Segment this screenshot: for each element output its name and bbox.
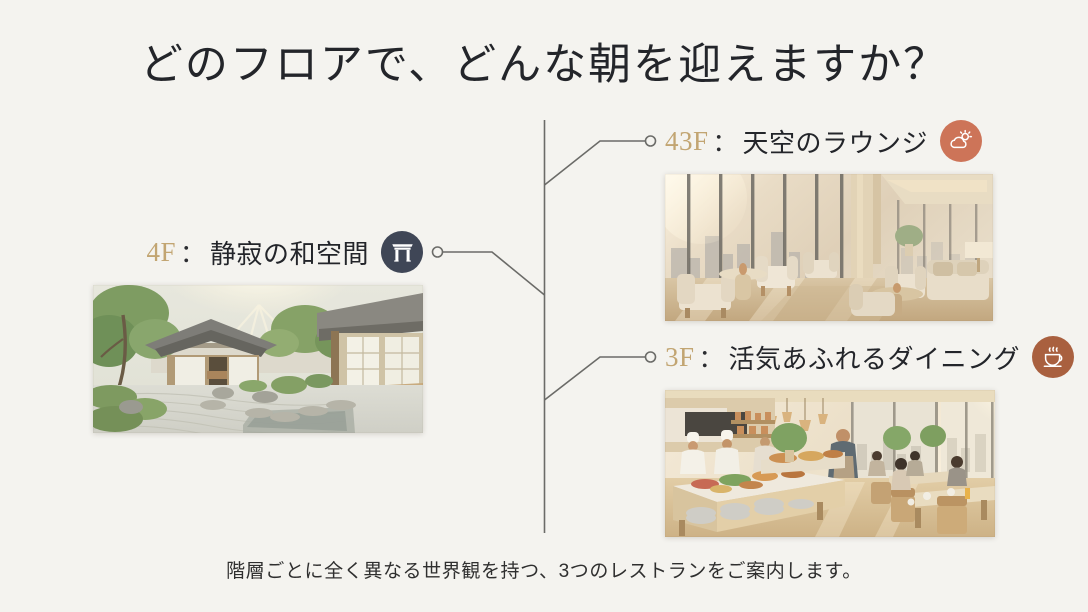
connector-branch-43f (545, 141, 646, 185)
floor-name-3f: 活気あふれるダイニング (729, 339, 1021, 376)
sun-cloud-icon (940, 120, 982, 162)
connector-branch-3f (545, 357, 646, 400)
floor-label-43f[interactable]: 43F ： 天空のラウンジ (665, 120, 993, 162)
japanese-garden-photo[interactable] (93, 285, 423, 433)
floor-name-43f: 天空のラウンジ (743, 123, 929, 160)
page-title: どのフロアで、どんな朝を迎えますか？ (0, 30, 1088, 92)
floor-number-43f: 43F (665, 126, 709, 157)
torii-icon (381, 231, 423, 273)
floor-name-4f: 静寂の和空間 (210, 234, 369, 271)
floor-separator-4f: ： (176, 234, 210, 270)
floor-label-3f[interactable]: 3F ： 活気あふれるダイニング (665, 336, 1074, 378)
coffee-cup-icon (1032, 336, 1074, 378)
connector-node-43f (646, 136, 656, 146)
floor-block-3f: 3F ： 活気あふれるダイニング (665, 336, 1074, 537)
connector-node-3f (646, 352, 656, 362)
floor-block-4f: 4F ： 静寂の和空間 (93, 231, 423, 433)
floor-separator-3f: ： (695, 339, 729, 375)
floor-number-4f: 4F (146, 237, 176, 268)
dining-buffet-photo[interactable] (665, 390, 995, 537)
floor-separator-43f: ： (709, 123, 743, 159)
floor-number-3f: 3F (665, 342, 695, 373)
slide-caption: 階層ごとに全く異なる世界観を持つ、3つのレストランをご案内します。 (0, 556, 1088, 583)
connector-branch-4f (443, 252, 545, 295)
connector-node-4f (433, 247, 443, 257)
floor-block-43f: 43F ： 天空のラウンジ (665, 120, 993, 321)
sky-lounge-photo[interactable] (665, 174, 993, 321)
floor-label-4f[interactable]: 4F ： 静寂の和空間 (93, 231, 423, 273)
slide-canvas: どのフロアで、どんな朝を迎えますか？ 43F ： 天空のラウンジ (0, 0, 1088, 612)
